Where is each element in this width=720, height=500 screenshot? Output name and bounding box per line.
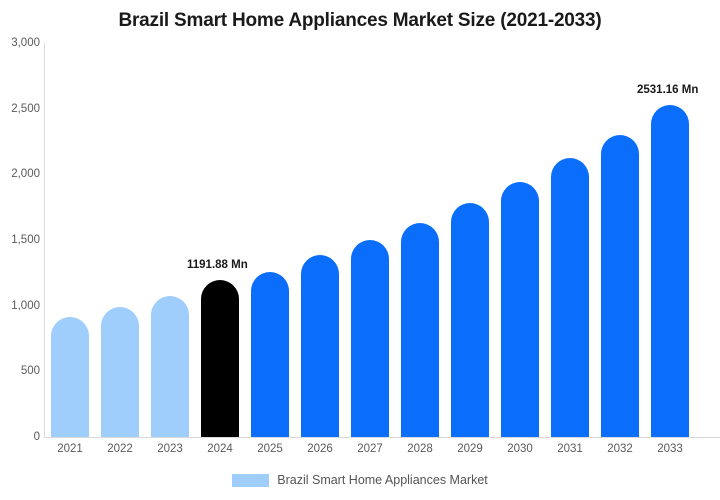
bar-2028[interactable]: [401, 223, 439, 437]
data-label-2024: 1191.88 Mn: [187, 259, 248, 271]
bars-layer: 20212022202320241191.88 Mn20252026202720…: [0, 0, 720, 500]
bar-2031[interactable]: [551, 158, 589, 437]
bar-2025[interactable]: [251, 272, 289, 437]
bar-2033[interactable]: [651, 105, 689, 437]
bar-2021[interactable]: [51, 317, 89, 437]
bar-2024[interactable]: [201, 280, 239, 437]
bar-2029[interactable]: [451, 203, 489, 437]
bar-2022[interactable]: [101, 307, 139, 437]
bar-2030[interactable]: [501, 182, 539, 437]
legend-item-label: Brazil Smart Home Appliances Market: [277, 473, 488, 487]
bar-2023[interactable]: [151, 296, 189, 437]
bar-2026[interactable]: [301, 255, 339, 437]
data-label-2033: 2531.16 Mn: [637, 84, 698, 96]
bar-2027[interactable]: [351, 240, 389, 437]
bar-chart: Brazil Smart Home Appliances Market Size…: [0, 0, 720, 500]
x-axis-tick-2033: 2033: [640, 443, 700, 455]
legend-swatch-icon: [232, 474, 269, 487]
chart-legend: Brazil Smart Home Appliances Market: [0, 473, 720, 487]
bar-2032[interactable]: [601, 135, 639, 437]
